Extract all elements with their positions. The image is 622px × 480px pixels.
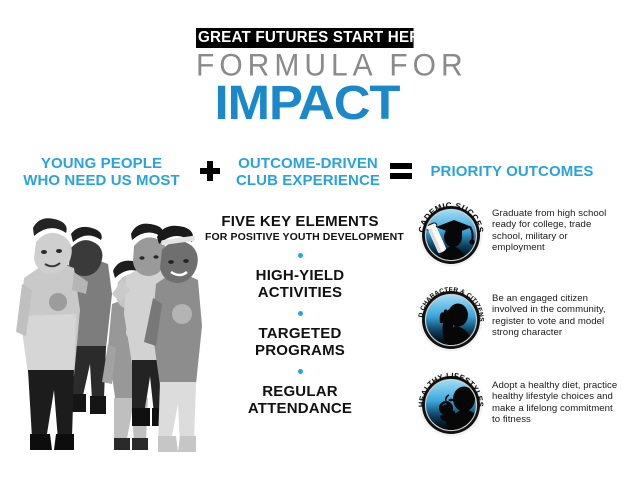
healthy-lifestyles-description: Adopt a healthy diet, practice healthy l… [492, 380, 618, 426]
club-experience-item-0-line2: ACTIVITIES [205, 284, 395, 301]
bullet-dot [298, 369, 303, 374]
club-experience-item-0: HIGH-YIELD ACTIVITIES [205, 267, 395, 301]
club-experience-heading: FIVE KEY ELEMENTS [205, 214, 395, 230]
bullet-dot [298, 253, 303, 258]
club-experience-item-1-line2: PROGRAMS [205, 342, 395, 359]
logo-line-impact: IMPACT [189, 81, 424, 127]
bullet-dot [298, 311, 303, 316]
equation-term-priority-outcomes: PRIORITY OUTCOMES [412, 164, 612, 181]
equation-term-club-experience: OUTCOME-DRIVEN CLUB EXPERIENCE [228, 156, 388, 189]
plus-operator-icon [200, 161, 220, 181]
equals-top-bar [390, 163, 412, 169]
club-experience-item-1-line1: TARGETED [205, 325, 395, 342]
club-experience-item-1: TARGETED PROGRAMS [205, 325, 395, 359]
youth-group-photo [16, 198, 202, 456]
equals-operator-icon [390, 162, 412, 180]
good-character-citizenship-description: Be an engaged citizen involved in the co… [492, 293, 618, 339]
equation-term1-line1: YOUNG PEOPLE [14, 156, 189, 173]
equation-term2-line1: OUTCOME-DRIVEN [228, 156, 388, 173]
equals-bottom-bar [390, 173, 412, 179]
formula-for-impact-logo: GREAT FUTURES START HERE FORMULA FOR IMP… [196, 28, 418, 127]
equation-term-young-people: YOUNG PEOPLE WHO NEED US MOST [14, 156, 189, 189]
club-experience-item-0-line1: HIGH-YIELD [205, 267, 395, 284]
equation-term2-line2: CLUB EXPERIENCE [228, 173, 388, 190]
priority-outcome-good-character-citizenship: GOOD CHARACTER & CITIZENSHIP Be an engag… [418, 281, 618, 353]
priority-outcome-academic-success: ACADEMIC SUCCESS Graduate from high scho… [418, 196, 618, 268]
club-experience-item-2-line2: ATTENDANCE [205, 400, 395, 417]
priority-outcome-healthy-lifestyles: HEALTHY LIFESTYLES Adopt a healthy diet,… [418, 366, 618, 438]
club-experience-item-2: REGULAR ATTENDANCE [205, 383, 395, 417]
healthy-lifestyles-badge: HEALTHY LIFESTYLES [418, 372, 484, 438]
academic-success-description: Graduate from high school ready for coll… [492, 208, 618, 254]
club-experience-list: FIVE KEY ELEMENTS FOR POSITIVE YOUTH DEV… [205, 214, 395, 417]
plus-vertical-bar [207, 161, 213, 181]
club-experience-item-2-line1: REGULAR [205, 383, 395, 400]
tagline-bar: GREAT FUTURES START HERE [196, 28, 414, 48]
academic-success-badge: ACADEMIC SUCCESS [418, 202, 484, 268]
equation-term1-line2: WHO NEED US MOST [14, 173, 189, 190]
good-character-citizenship-badge: GOOD CHARACTER & CITIZENSHIP [418, 287, 484, 353]
club-experience-subheading: FOR POSITIVE YOUTH DEVELOPMENT [205, 231, 395, 243]
